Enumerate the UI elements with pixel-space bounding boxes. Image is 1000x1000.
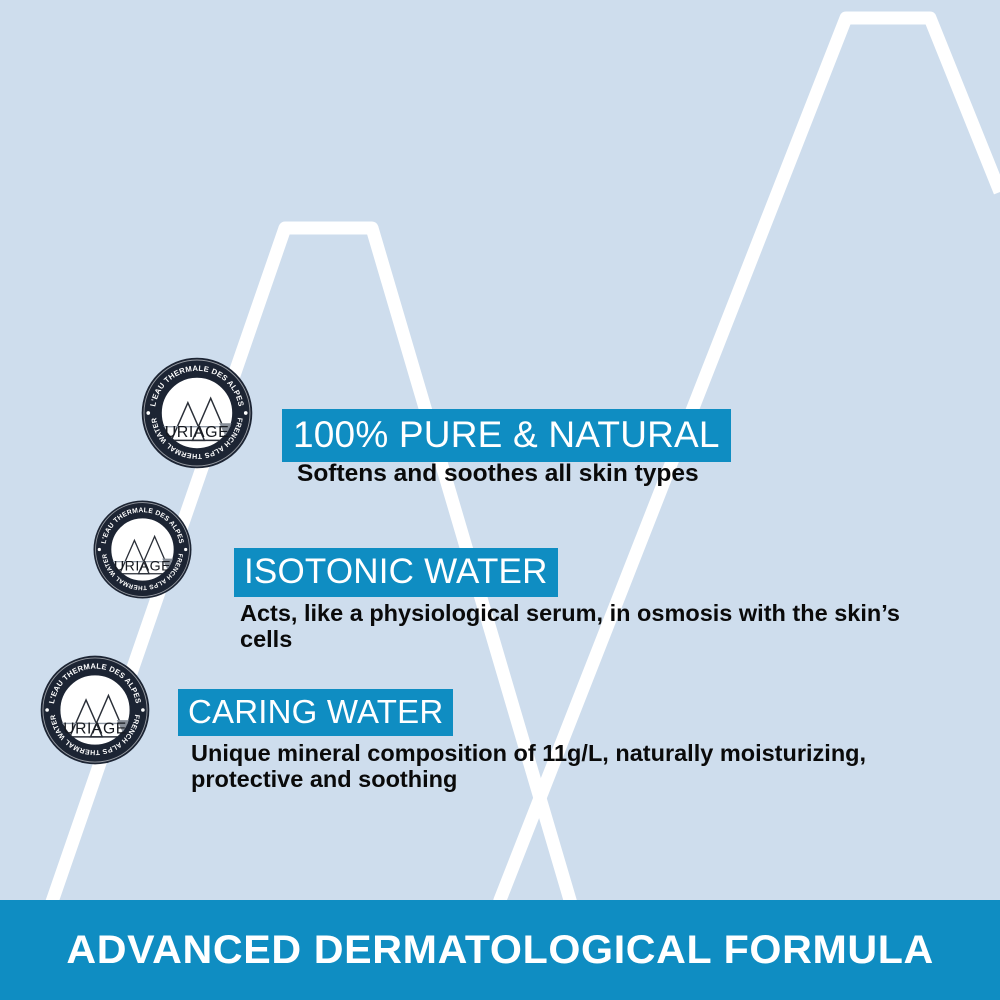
uriage-logo-seal-2: URIAGE L'EAU THERMALE DES ALPES FRENCH A… (92, 499, 193, 600)
feature-subline-pure-natural: Softens and soothes all skin types (297, 460, 937, 487)
uriage-mountain-seal-icon: URIAGE L'EAU THERMALE DES ALPES FRENCH A… (92, 499, 193, 600)
uriage-mountain-seal-icon: URIAGE L'EAU THERMALE DES ALPES FRENCH A… (140, 356, 254, 470)
feature-subline-isotonic-water: Acts, like a physiological serum, in osm… (240, 600, 910, 653)
feature-headline-caring-water: CARING WATER (178, 689, 453, 736)
banner-title: ADVANCED DERMATOLOGICAL FORMULA (66, 928, 934, 973)
uriage-wordmark: URIAGE (114, 558, 171, 574)
bottom-banner: ADVANCED DERMATOLOGICAL FORMULA (0, 900, 1000, 1000)
feature-headline-isotonic-water: ISOTONIC WATER (234, 548, 558, 597)
poster-root: URIAGE L'EAU THERMALE DES ALPES FRENCH A… (0, 0, 1000, 1000)
uriage-wordmark: URIAGE (63, 721, 126, 738)
uriage-logo-seal-1: URIAGE L'EAU THERMALE DES ALPES FRENCH A… (140, 356, 254, 470)
feature-headline-pure-natural: 100% PURE & NATURAL (282, 409, 731, 462)
feature-subline-caring-water: Unique mineral composition of 11g/L, nat… (191, 740, 981, 793)
uriage-wordmark: URIAGE (165, 424, 230, 441)
uriage-mountain-seal-icon: URIAGE L'EAU THERMALE DES ALPES FRENCH A… (39, 654, 151, 766)
uriage-logo-seal-3: URIAGE L'EAU THERMALE DES ALPES FRENCH A… (39, 654, 151, 766)
